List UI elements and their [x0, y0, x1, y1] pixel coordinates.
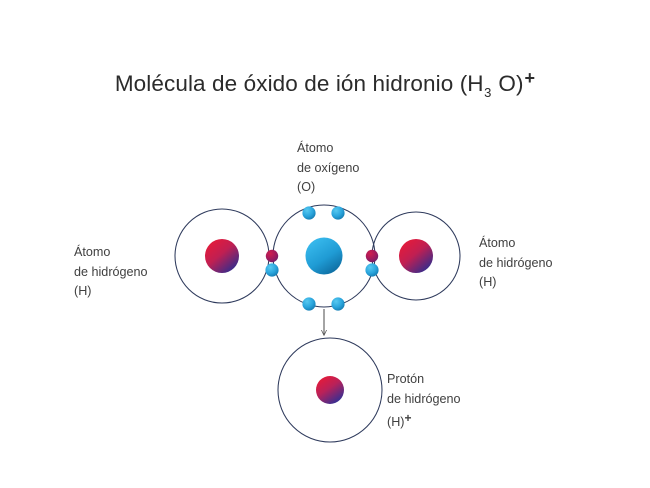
nucleus-oxygen — [306, 238, 343, 275]
label-hydrogen-right-line2: de hidrógeno — [479, 254, 553, 274]
label-oxygen-line2: de oxígeno — [297, 159, 359, 179]
label-hydrogen-right: Átomo de hidrógeno (H) — [479, 234, 553, 293]
electron-bond-left-proton — [266, 250, 278, 262]
electron-top-right — [331, 206, 344, 219]
label-proton-line3: (H) — [387, 415, 404, 429]
label-hydrogen-left-line3: (H) — [74, 282, 148, 302]
label-oxygen-atom: Átomo de oxígeno (O) — [297, 139, 359, 198]
electron-bond-right-shared — [365, 263, 378, 276]
slide-canvas: Molécula de óxido de ión hidronio (H3 O)… — [0, 0, 650, 488]
label-hydrogen-left-line1: Átomo — [74, 243, 148, 263]
nucleus-proton — [316, 376, 344, 404]
nucleus-hydrogen-left — [205, 239, 239, 273]
label-hydrogen-left-line2: de hidrógeno — [74, 263, 148, 283]
label-hydrogen-left: Átomo de hidrógeno (H) — [74, 243, 148, 302]
electron-bottom-left — [302, 297, 315, 310]
label-proton-line1: Protón — [387, 370, 461, 390]
label-proton-line2: de hidrógeno — [387, 390, 461, 410]
electron-top-left — [302, 206, 315, 219]
nucleus-hydrogen-right — [399, 239, 433, 273]
electron-bond-left-shared — [265, 263, 278, 276]
label-hydrogen-right-line1: Átomo — [479, 234, 553, 254]
label-proton: Protón de hidrógeno (H)+ — [387, 370, 461, 433]
electron-bond-right-proton — [366, 250, 378, 262]
label-proton-line3-wrap: (H)+ — [387, 409, 461, 433]
label-proton-superscript: + — [404, 411, 411, 425]
electron-bottom-right — [331, 297, 344, 310]
label-oxygen-line1: Átomo — [297, 139, 359, 159]
label-oxygen-line3: (O) — [297, 178, 359, 198]
label-hydrogen-right-line3: (H) — [479, 273, 553, 293]
